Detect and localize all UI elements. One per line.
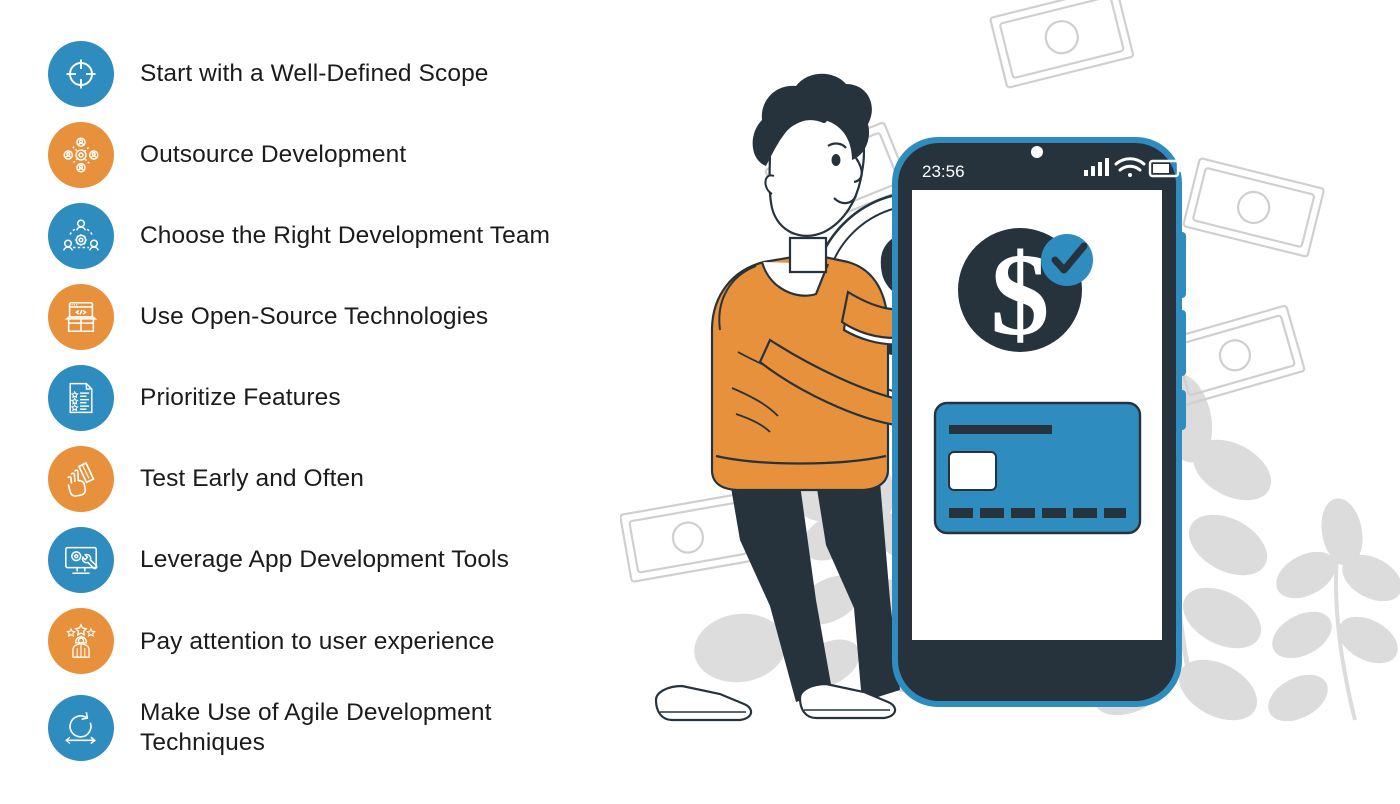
agile-cycle-icon <box>61 709 101 747</box>
volume-down-button[interactable] <box>1176 310 1186 376</box>
list-item-label: Start with a Well-Defined Scope <box>140 59 489 89</box>
banknote-outline-icon <box>1183 158 1324 257</box>
list-item[interactable]: Make Use of Agile Development Techniques <box>48 689 648 766</box>
tip-icon-badge <box>48 203 114 269</box>
tip-icon-badge <box>48 365 114 431</box>
list-item-label: Leverage App Development Tools <box>140 545 509 575</box>
network-nodes-icon <box>62 136 100 174</box>
star-checklist-icon <box>63 379 99 417</box>
tip-icon-badge <box>48 41 114 107</box>
list-item[interactable]: Prioritize Features <box>48 365 648 432</box>
hand-test-icon <box>61 459 101 499</box>
list-item-label: Pay attention to user experience <box>140 627 495 657</box>
leaf-branch-shape <box>1260 495 1400 731</box>
user-rating-icon <box>62 622 100 660</box>
tip-icon-badge <box>48 608 114 674</box>
front-camera-icon <box>1031 146 1043 158</box>
tip-icon-badge <box>48 527 114 593</box>
list-item-label: Outsource Development <box>140 140 406 170</box>
list-item-label: Use Open-Source Technologies <box>140 302 488 332</box>
credit-card-icon <box>935 403 1140 533</box>
list-item[interactable]: Outsource Development <box>48 121 648 188</box>
volume-up-button[interactable] <box>1176 232 1186 298</box>
list-item[interactable]: Leverage App Development Tools <box>48 527 648 594</box>
tips-list: Start with a Well-Defined Scope <box>48 40 648 780</box>
list-item-label: Choose the Right Development Team <box>140 221 550 251</box>
monitor-wrench-icon <box>61 541 101 579</box>
list-item[interactable]: Pay attention to user experience <box>48 608 648 675</box>
list-item-label: Prioritize Features <box>140 383 341 413</box>
tip-icon-badge <box>48 695 114 761</box>
phone-mockup: 23:56 <box>892 137 1186 707</box>
tip-icon-badge <box>48 446 114 512</box>
illustration-panel: $ <box>620 0 1400 804</box>
tip-icon-badge <box>48 284 114 350</box>
tip-icon-badge <box>48 122 114 188</box>
list-item[interactable]: Use Open-Source Technologies <box>48 283 648 350</box>
status-bar-time: 23:56 <box>922 162 965 181</box>
list-item[interactable]: Choose the Right Development Team <box>48 202 648 269</box>
code-shop-icon <box>62 298 100 336</box>
banknote-outline-icon <box>990 0 1134 88</box>
list-item-label: Test Early and Often <box>140 464 364 494</box>
list-item-label: Make Use of Agile Development Techniques <box>140 698 540 758</box>
list-item[interactable]: Test Early and Often <box>48 446 648 513</box>
power-button[interactable] <box>1176 390 1186 430</box>
list-item[interactable]: Start with a Well-Defined Scope <box>48 40 648 107</box>
svg-text:$: $ <box>991 229 1050 360</box>
shoe <box>656 686 751 720</box>
team-gear-icon <box>61 216 101 256</box>
target-icon <box>61 54 101 94</box>
infographic-canvas: Start with a Well-Defined Scope <box>0 0 1400 804</box>
